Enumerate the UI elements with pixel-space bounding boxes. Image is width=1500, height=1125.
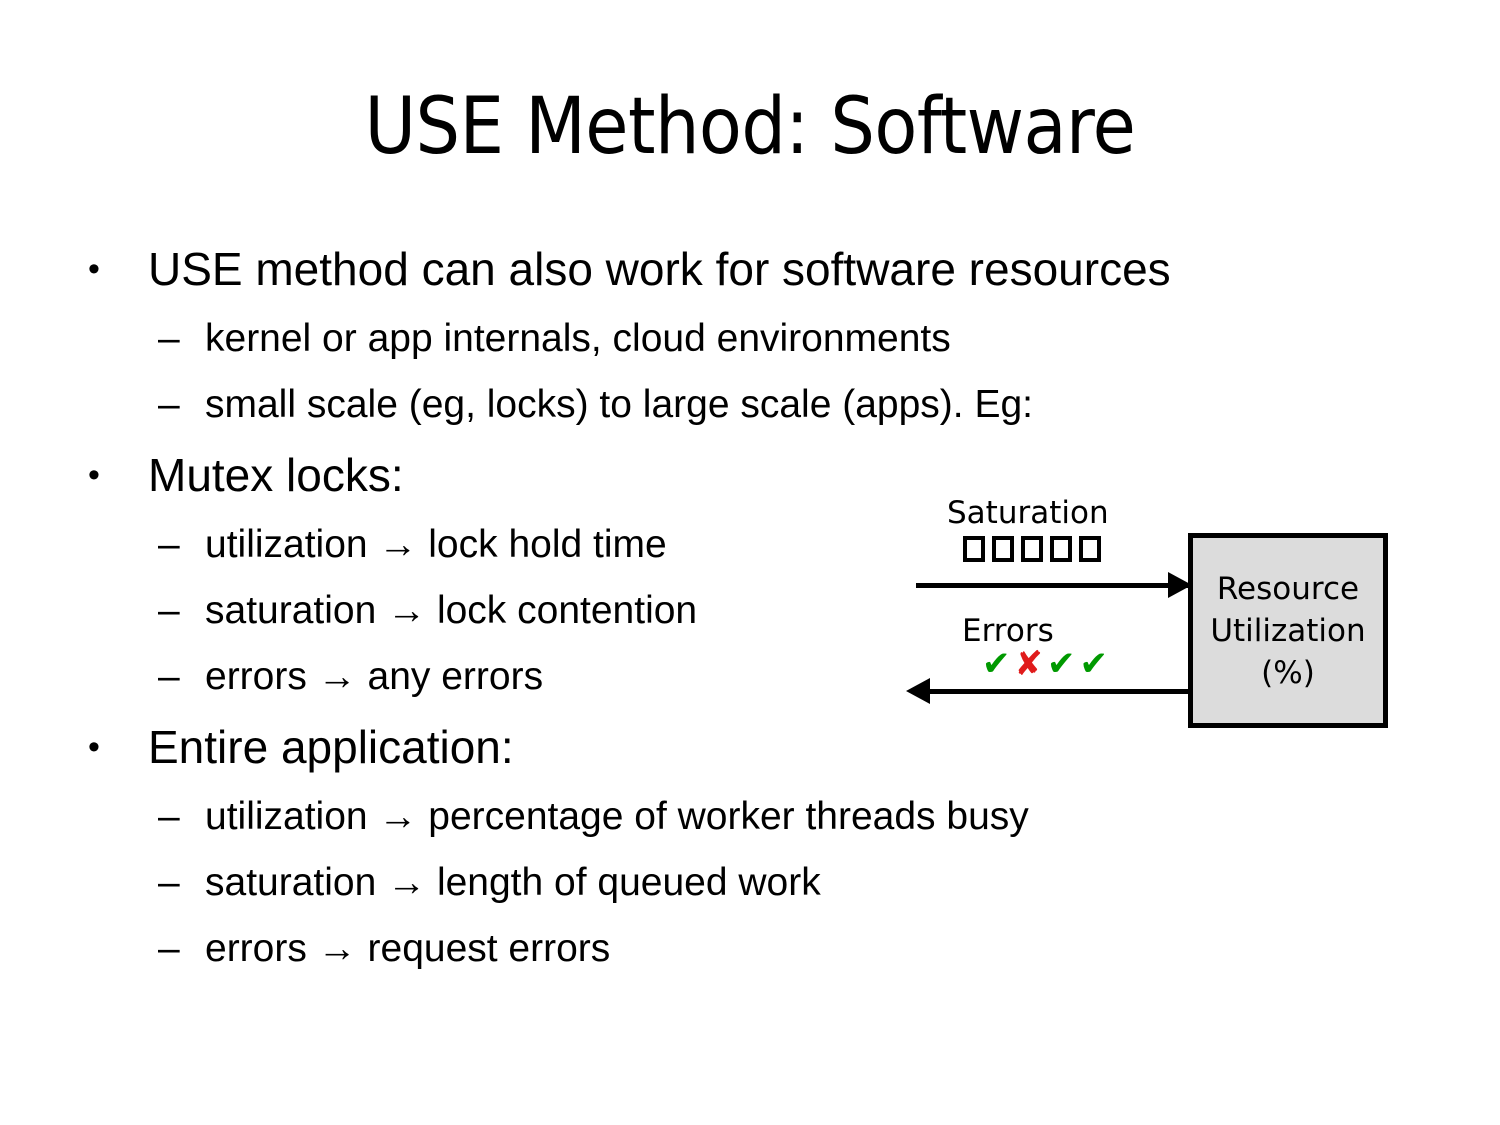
bullet-item: –errors → request errors <box>0 916 1300 982</box>
bullet-dash-icon: – <box>158 372 180 438</box>
resource-utilization-box: Resource Utilization (%) <box>1188 533 1388 728</box>
bullet-item: –utilization → percentage of worker thre… <box>0 784 1300 850</box>
page-title: USE Method: Software <box>0 88 1500 166</box>
errors-label: Errors <box>962 614 1054 648</box>
bullet-item-label: saturation → length of queued work <box>205 861 821 904</box>
check-mark-icon: ✔ <box>982 647 1011 681</box>
errors-marks-group: ✔✘✔✔ <box>982 647 1108 681</box>
bullet-dash-icon: – <box>158 512 180 578</box>
queue-slot-icon <box>963 536 985 562</box>
bullet-item-label: utilization → percentage of worker threa… <box>205 795 1029 838</box>
cross-mark-icon: ✘ <box>1015 647 1044 681</box>
queue-slot-icon <box>1079 536 1101 562</box>
bullet-dash-icon: – <box>158 578 180 644</box>
bullet-item-label: USE method can also work for software re… <box>148 243 1171 295</box>
bullet-item-label: utilization → lock hold time <box>205 523 667 566</box>
bullet-item-label: Mutex locks: <box>148 449 404 501</box>
check-mark-icon: ✔ <box>1080 647 1109 681</box>
bullet-item: –saturation → length of queued work <box>0 850 1300 916</box>
saturation-queue-icon <box>963 536 1101 562</box>
bullet-dash-icon: – <box>158 306 180 372</box>
use-method-diagram: Saturation Errors ✔✘✔✔ Resource Utilizat… <box>900 490 1410 740</box>
errors-arrow-line <box>916 689 1190 694</box>
errors-arrow-head-icon <box>906 678 930 704</box>
resource-box-line-3: (%) <box>1261 652 1315 694</box>
bullet-item: •USE method can also work for software r… <box>0 232 1300 306</box>
bullet-dot-icon: • <box>88 710 100 784</box>
saturation-label: Saturation <box>947 496 1109 530</box>
bullet-item-label: kernel or app internals, cloud environme… <box>205 317 951 360</box>
bullet-dash-icon: – <box>158 916 180 982</box>
resource-box-line-1: Resource <box>1217 568 1359 610</box>
bullet-item-label: Entire application: <box>148 721 514 773</box>
queue-slot-icon <box>992 536 1014 562</box>
bullet-item-label: small scale (eg, locks) to large scale (… <box>205 383 1033 426</box>
queue-slot-icon <box>1021 536 1043 562</box>
bullet-item: –small scale (eg, locks) to large scale … <box>0 372 1300 438</box>
bullet-item-label: errors → request errors <box>205 927 610 970</box>
bullet-dash-icon: – <box>158 784 180 850</box>
queue-slot-icon <box>1050 536 1072 562</box>
check-mark-icon: ✔ <box>1047 647 1076 681</box>
bullet-dash-icon: – <box>158 850 180 916</box>
resource-box-line-2: Utilization <box>1210 610 1365 652</box>
bullet-dash-icon: – <box>158 644 180 710</box>
bullet-item: –kernel or app internals, cloud environm… <box>0 306 1300 372</box>
bullet-dot-icon: • <box>88 232 100 306</box>
saturation-arrow-line <box>916 583 1190 588</box>
bullet-item-label: saturation → lock contention <box>205 589 697 632</box>
bullet-dot-icon: • <box>88 438 100 512</box>
bullet-item-label: errors → any errors <box>205 655 543 698</box>
